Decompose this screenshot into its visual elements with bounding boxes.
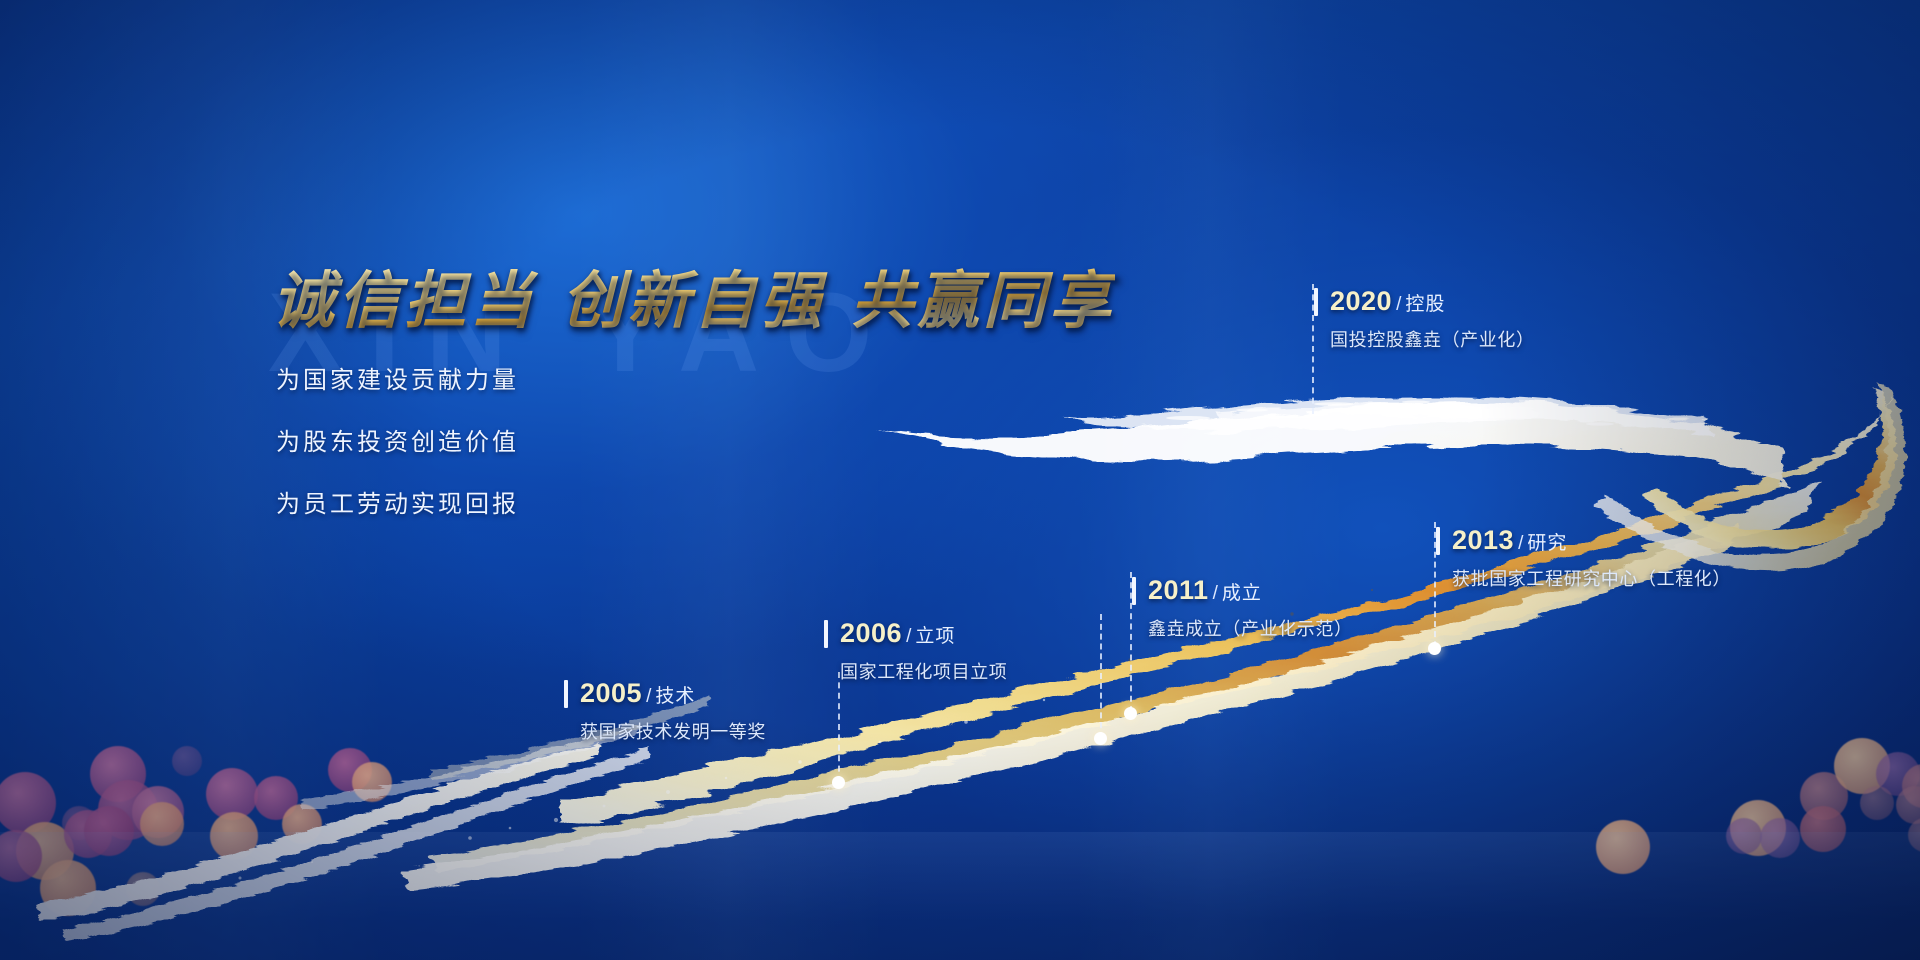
milestone-accent-bar — [1436, 527, 1440, 555]
milestone-category: 控股 — [1405, 294, 1445, 315]
timeline-node-2006 — [1094, 732, 1107, 745]
milestone-accent-bar — [1314, 288, 1318, 316]
milestone-description: 国投控股鑫垚（产业化） — [1330, 326, 1535, 352]
page-title: 诚信担当 创新自强 共赢同享 — [272, 250, 1115, 340]
milestone-category: 技术 — [655, 686, 695, 707]
milestone-category: 立项 — [915, 626, 955, 647]
leader-line-2020 — [1312, 284, 1314, 414]
milestone-2005: 2005/技术 获国家技术发明一等奖 — [580, 678, 766, 744]
leader-line-2013 — [1434, 522, 1436, 647]
milestone-year: 2005 — [580, 678, 642, 708]
milestone-heading: 2005/技术 — [580, 678, 766, 709]
leader-line-2005 — [838, 672, 840, 782]
leader-line-2006 — [1100, 614, 1102, 738]
slogan-line-2: 为股东投资创造价值 — [276, 422, 519, 457]
leader-line-2011 — [1130, 572, 1132, 712]
timeline-node-2013 — [1428, 642, 1441, 655]
milestone-heading: 2020/控股 — [1330, 286, 1535, 317]
milestone-separator: / — [1209, 583, 1222, 604]
milestone-separator: / — [642, 686, 655, 707]
milestone-category: 研究 — [1527, 533, 1567, 554]
milestone-category: 成立 — [1222, 583, 1262, 604]
milestone-separator: / — [1514, 533, 1527, 554]
milestone-accent-bar — [824, 620, 828, 648]
milestone-year: 2013 — [1452, 525, 1514, 555]
slogan-line-3: 为员工劳动实现回报 — [276, 484, 519, 519]
milestone-heading: 2013/研究 — [1452, 525, 1731, 556]
milestone-description: 获批国家工程研究中心（工程化） — [1452, 565, 1731, 591]
milestone-accent-bar — [564, 680, 568, 708]
milestone-separator: / — [902, 626, 915, 647]
milestone-year: 2020 — [1330, 286, 1392, 316]
milestone-description: 获国家技术发明一等奖 — [580, 718, 766, 744]
milestone-2006: 2006/立项 国家工程化项目立项 — [840, 618, 1007, 684]
milestone-2020: 2020/控股 国投控股鑫垚（产业化） — [1330, 286, 1535, 352]
milestone-2011: 2011/成立 鑫垚成立（产业化示范） — [1148, 575, 1353, 641]
slogan-line-1: 为国家建设贡献力量 — [276, 360, 519, 395]
poster-canvas: XIN YAO 诚信担当 创新自强 共赢同享 为国家建设贡献力量 为股东投资创造… — [0, 0, 1920, 960]
milestone-heading: 2011/成立 — [1148, 575, 1353, 606]
milestone-year: 2011 — [1148, 575, 1209, 605]
milestone-description: 鑫垚成立（产业化示范） — [1148, 615, 1353, 641]
timeline-node-2005 — [832, 776, 845, 789]
milestone-description: 国家工程化项目立项 — [840, 658, 1007, 684]
milestone-accent-bar — [1132, 577, 1136, 605]
milestone-2013: 2013/研究 获批国家工程研究中心（工程化） — [1452, 525, 1731, 591]
milestone-heading: 2006/立项 — [840, 618, 1007, 649]
milestone-separator: / — [1392, 294, 1405, 315]
milestone-year: 2006 — [840, 618, 902, 648]
timeline-node-2011 — [1124, 707, 1137, 720]
